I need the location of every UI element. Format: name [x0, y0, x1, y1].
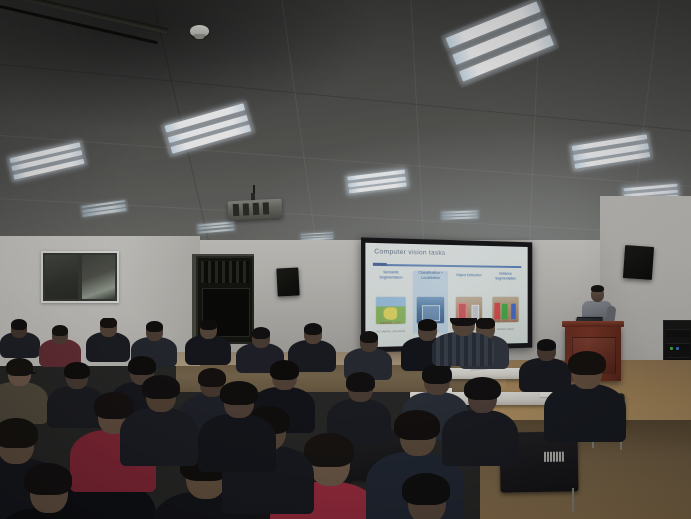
person-shoulders: [120, 408, 198, 466]
eyeglasses-icon: [24, 372, 36, 374]
person-hair: [200, 319, 217, 330]
person-shoulders: [544, 384, 626, 442]
wall-speaker-left: [276, 267, 299, 296]
ceiling-light-fixture: [440, 209, 480, 220]
person-hair: [537, 339, 556, 351]
ceiling: [0, 0, 691, 252]
thumb-mask-blue: [511, 303, 516, 319]
projector-vent: [263, 202, 270, 214]
person-hair: [270, 360, 299, 380]
person-hair: [418, 319, 437, 331]
panel-label: Object Detection: [455, 271, 483, 280]
audience: [0, 318, 691, 519]
person-hair: [464, 377, 501, 400]
person-hair: [146, 321, 163, 332]
person-shoulders: [198, 414, 276, 472]
window-pane: [45, 255, 78, 299]
person-hair: [128, 356, 156, 375]
lecture-hall-photo: Computer vision tasks Semantic Segmentat…: [0, 0, 691, 519]
person-hair: [422, 364, 452, 384]
person-hair: [304, 433, 354, 467]
person-hair: [198, 368, 226, 387]
person-hair: [346, 372, 375, 392]
slide-accent-rule: [372, 264, 521, 268]
slide-title: Computer vision tasks: [374, 248, 445, 257]
left-wall-window: [41, 251, 119, 303]
window-pane: [82, 255, 115, 299]
person-hair: [402, 473, 450, 505]
person-hair: [568, 351, 606, 375]
panel-label: Classification + Localization: [413, 271, 448, 280]
smoke-detector-icon: [190, 25, 209, 37]
person-hair: [450, 318, 477, 326]
panel-label: Semantic Segmentation: [372, 270, 409, 280]
person-hair: [476, 318, 495, 329]
panel-label: Instance Segmentation: [489, 271, 522, 280]
person-hair: [24, 463, 72, 495]
projector-vent: [253, 203, 260, 215]
door-grille: [201, 261, 249, 283]
person-hair: [64, 362, 90, 379]
person-hair: [220, 381, 258, 405]
ceiling-projector: [228, 199, 283, 221]
person-hair: [142, 375, 180, 399]
presenter-hair: [591, 285, 604, 292]
person-hair: [0, 418, 38, 448]
person-hair: [304, 323, 322, 335]
person-hair: [100, 318, 117, 328]
person-hair: [11, 319, 27, 330]
wall-speaker-right: [623, 245, 654, 280]
projector-vent: [243, 203, 250, 215]
person-hair: [52, 325, 68, 336]
person-shoulders: [432, 332, 494, 366]
person-hair: [360, 331, 378, 343]
person-shoulders: [185, 335, 231, 365]
projector-vent: [233, 204, 240, 216]
slide-accent-tick: [372, 263, 386, 267]
person-hair: [252, 327, 270, 339]
person-shoulders: [442, 410, 518, 466]
person-hair: [394, 410, 440, 440]
person-shoulders: [0, 382, 48, 424]
